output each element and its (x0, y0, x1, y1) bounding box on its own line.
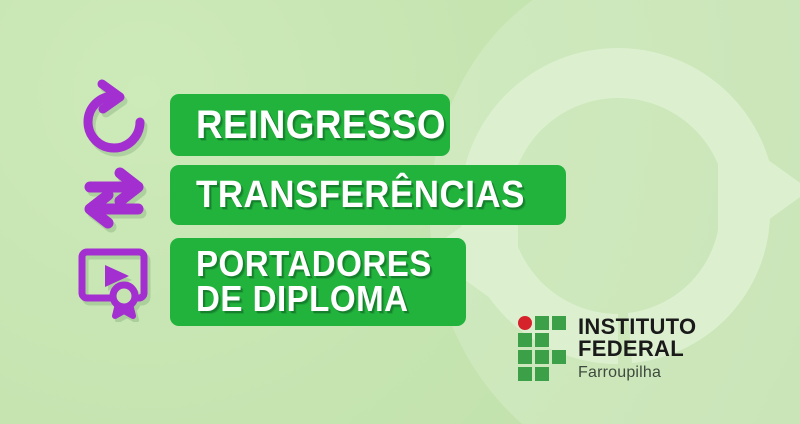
logo-square (552, 350, 566, 364)
banner-label-reingresso: REINGRESSO (196, 106, 446, 145)
logo-square (535, 316, 549, 330)
poster-canvas: REINGRESSO TRANSFERÊNCIAS PORTADORES DE … (0, 0, 800, 424)
diploma-certificate-icon (72, 238, 156, 322)
logo-title: INSTITUTO FEDERAL (578, 316, 800, 360)
banner-label-portadores-de-diploma: PORTADORES DE DIPLOMA (196, 247, 432, 317)
logo-gap (552, 367, 566, 381)
banner-transferencias[interactable]: TRANSFERÊNCIAS (170, 165, 566, 225)
two-way-arrows-icon (72, 155, 156, 239)
logo-square (535, 350, 549, 364)
logo-dot-icon (518, 316, 532, 330)
logo-square (518, 367, 532, 381)
logo-square (518, 350, 532, 364)
instituto-federal-logo: INSTITUTO FEDERAL Farroupilha (518, 316, 800, 381)
logo-square (518, 333, 532, 347)
banner-reingresso[interactable]: REINGRESSO (170, 94, 450, 156)
logo-square (535, 367, 549, 381)
logo-subtitle: Farroupilha (578, 365, 800, 381)
instituto-federal-logo-mark (518, 316, 566, 381)
logo-square (535, 333, 549, 347)
icon-column (0, 0, 170, 424)
banner-label-transferencias: TRANSFERÊNCIAS (196, 177, 525, 214)
logo-gap (552, 333, 566, 347)
banner-portadores-de-diploma[interactable]: PORTADORES DE DIPLOMA (170, 238, 466, 326)
refresh-circle-arrow-icon (72, 76, 156, 160)
logo-square (552, 316, 566, 330)
logo-text-block: INSTITUTO FEDERAL Farroupilha (578, 316, 800, 381)
